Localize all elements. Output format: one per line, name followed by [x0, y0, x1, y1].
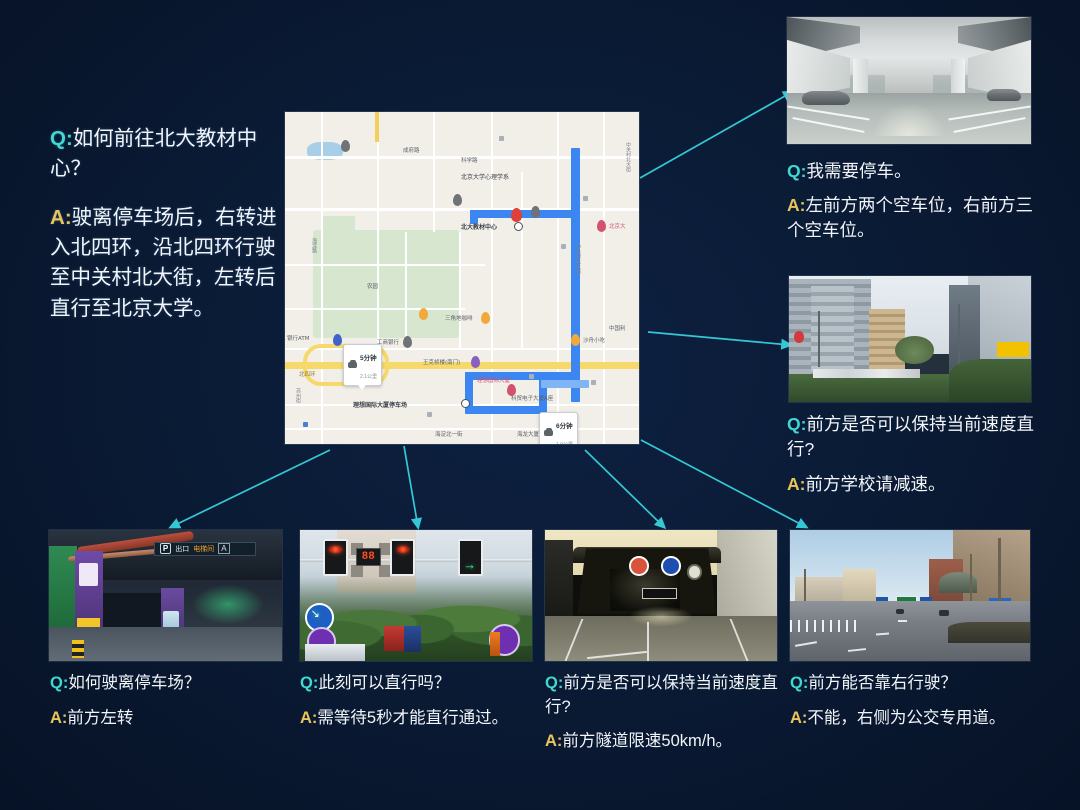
far-wall [885, 68, 934, 96]
map-label: 三角地咖啡 [445, 314, 473, 322]
parked-car-right [987, 89, 1021, 100]
spacer [300, 698, 538, 707]
red-sign [794, 331, 804, 342]
spacer [50, 698, 285, 707]
question-text: 此刻可以直行吗？ [318, 674, 450, 692]
a-label: A [787, 195, 800, 215]
question-text: 前方能否靠右行驶？ [808, 674, 957, 692]
answer-navigation: A:驶离停车场后，右转进入北四环，沿北四环行驶至中关村北大街，左转后直行至北京大… [50, 203, 282, 324]
question-navigation: Q:如何前往北大教材中心？ [50, 124, 282, 185]
map-label: 科学路 [461, 156, 478, 164]
tunnel-scene [545, 530, 777, 661]
car-icon [348, 362, 357, 368]
map-poi [591, 380, 596, 385]
answer-parking: A:左前方两个空车位，右前方三个空车位。 [787, 193, 1049, 243]
map-road [459, 232, 461, 348]
exit-direction-sign: P 出口 电梯间 A [154, 542, 257, 556]
photo-traffic-lights[interactable]: 88 → ↘ [300, 530, 532, 661]
map-pin[interactable] [531, 206, 540, 218]
a-label: A [50, 206, 65, 229]
map-road [377, 112, 379, 352]
retaining-wall-left [545, 540, 573, 616]
q-label: Q [787, 161, 801, 181]
a-label: A [790, 709, 802, 727]
spacer [790, 698, 1040, 707]
qa-block-navigation: Q:如何前往北大教材中心？ A:驶离停车场后，右转进入北四环，沿北四环行驶至中关… [50, 124, 282, 326]
q-label: Q [50, 127, 66, 150]
map-origin-marker-label: 理想国际大厦 [477, 376, 510, 384]
qa-block-school-speed: Q:前方是否可以保持当前速度直行? A:前方学校请减速。 [787, 412, 1055, 500]
map-route-tooltip-1[interactable]: 5分钟 2.1公里 [343, 344, 382, 386]
map-pin[interactable] [481, 312, 490, 324]
floor-light-reflection [872, 103, 945, 136]
map-road [321, 112, 323, 444]
map-label: 海淀北一街 [435, 430, 463, 438]
map-destination-dot [514, 222, 523, 231]
bare-tree [998, 538, 1001, 604]
map-label: 北四环 [299, 370, 316, 378]
q-label: Q [790, 674, 803, 692]
map-label: 银行ATM [287, 334, 309, 342]
question-text: 如何前往北大教材中心？ [50, 127, 257, 180]
bare-tree [970, 554, 972, 604]
a-label: A [787, 474, 800, 494]
question-parking: Q:我需要停车。 [787, 159, 1049, 184]
spacer [50, 187, 282, 203]
tooltip-distance: 2.1公里 [360, 374, 377, 380]
q-label: Q [50, 674, 63, 692]
map-road [433, 112, 435, 232]
parked-cars-row [813, 369, 919, 378]
map-route-tooltip-2[interactable]: 6分钟 1.9公里 [539, 412, 578, 444]
answer-text: 前方左转 [67, 709, 133, 727]
a-label: A [50, 709, 62, 727]
parking-p-icon: P [160, 543, 171, 554]
answer-text: 不能，右侧为公交专用道。 [807, 709, 1005, 727]
building-window [379, 565, 391, 577]
a-label: A [545, 732, 557, 750]
map-pin[interactable] [419, 308, 428, 320]
answer-bus-lane: A:不能，右侧为公交专用道。 [790, 707, 1040, 731]
zone-code: A [218, 543, 229, 554]
traffic-light-housing-2 [390, 539, 415, 576]
tooltip-distance: 1.9公里 [556, 442, 573, 444]
utility-pole [818, 311, 820, 366]
map-pin[interactable] [403, 336, 412, 348]
qa-block-tunnel-speed: Q:前方是否可以保持当前速度直行? A:前方隧道限速50km/h。 [545, 672, 785, 756]
map-destination-pin[interactable] [511, 208, 522, 222]
a-colon: : [65, 206, 72, 229]
map-poi [529, 374, 534, 379]
yellow-warning-sign [77, 618, 100, 627]
question-text: 前方是否可以保持当前速度直行? [545, 674, 778, 716]
distant-car [939, 610, 949, 616]
spacer [787, 464, 1055, 472]
utility-pole [958, 304, 960, 364]
answer-tunnel-speed: A:前方隧道限速50km/h。 [545, 730, 785, 754]
parking-garage-scene [787, 17, 1031, 144]
map-poi [499, 136, 504, 141]
map-route-highlight [541, 380, 589, 388]
map-label: 成府路 [403, 146, 420, 154]
tooltip-time: 5分钟 [360, 355, 377, 362]
map-label: 北京大学心理学系 [461, 172, 509, 181]
map-label: 沙舟小吃 [583, 336, 605, 344]
arrow-to-traffic-lights [404, 446, 418, 527]
street-tree [895, 336, 934, 364]
map-destination-label: 北大教材中心 [461, 222, 497, 231]
q-label: Q [300, 674, 313, 692]
map-label-vertical: 中关村北大街 [575, 244, 582, 274]
pedestrian-fence [790, 620, 862, 632]
q-label: Q [787, 414, 801, 434]
map-green-small [321, 216, 355, 232]
answer-text: 需等待5秒才能直行通过。 [317, 709, 508, 727]
map-label: 海龙大厦 [517, 430, 539, 438]
photo-colorful-garage[interactable]: P 出口 电梯间 A [49, 530, 282, 661]
speed-limit-sign [629, 556, 649, 576]
map-route-segment [571, 340, 580, 402]
parked-car-left [802, 91, 851, 105]
question-traffic-light: Q:此刻可以直行吗？ [300, 672, 538, 696]
answer-text: 驶离停车场后，右转进入北四环，沿北四环行驶至中关村北大街，左转后直行至北京大学。 [50, 206, 277, 320]
map-label-vertical: 苏州街 [295, 388, 302, 403]
a-label: A [300, 709, 312, 727]
arrow-to-street-view [648, 332, 790, 345]
answer-text: 前方隧道限速50km/h。 [562, 732, 732, 750]
answer-school-speed: A:前方学校请减速。 [787, 472, 1055, 497]
map-road [491, 112, 493, 444]
question-text: 我需要停车。 [806, 161, 911, 181]
traffic-light-housing-1 [323, 539, 348, 576]
road-light-glow [629, 606, 694, 627]
hedge-right [949, 359, 1031, 402]
map-label-vertical: 海淀路 [311, 238, 318, 253]
map-poi [583, 196, 588, 201]
red-light [397, 546, 410, 553]
map-pin[interactable] [453, 194, 462, 206]
map-label: 中国利 [609, 324, 626, 332]
wide-road-scene [790, 530, 1030, 661]
map-road [285, 208, 639, 211]
photo-street-view[interactable] [789, 276, 1031, 402]
lane-marking [647, 622, 649, 661]
map-label: 农园 [367, 282, 378, 290]
question-school-speed: Q:前方是否可以保持当前速度直行? [787, 412, 1055, 462]
traffic-lights-scene: 88 → ↘ [300, 530, 532, 661]
map-poi [427, 412, 432, 417]
answer-traffic-light: A:需等待5秒才能直行通过。 [300, 707, 538, 731]
traffic-light-housing-3: → [458, 539, 483, 576]
map-route-segment [465, 406, 547, 414]
sign-text-orange: 电梯间 [193, 544, 214, 554]
floor [49, 627, 282, 661]
map-road [285, 264, 485, 266]
answer-text: 左前方两个空车位，右前方三个空车位。 [787, 195, 1033, 240]
median-shrubs [948, 622, 1030, 643]
street-view-scene [789, 276, 1031, 402]
white-truck [305, 644, 365, 661]
map-arterial-vertical [375, 112, 379, 142]
map-pin[interactable] [471, 356, 480, 368]
infographic-canvas: Q:如何前往北大教材中心？ A:驶离停车场后，右转进入北四环，沿北四环行驶至中关… [0, 0, 1080, 810]
map-pin[interactable] [341, 140, 350, 152]
photo-wide-road[interactable] [790, 530, 1030, 661]
map-origin-label: 理想国际大厦停车场 [353, 400, 407, 409]
hazard-stripe-post [72, 640, 84, 658]
map-pin[interactable] [597, 220, 606, 232]
arrow-to-tunnel [585, 450, 664, 527]
map-origin-dot [461, 399, 470, 408]
map-park-area [313, 230, 459, 338]
tooltip-time: 6分钟 [556, 423, 573, 430]
qa-block-bus-lane: Q:前方能否靠右行驶？ A:不能，右侧为公交专用道。 [790, 672, 1040, 733]
question-bus-lane: Q:前方能否靠右行驶？ [790, 672, 1040, 696]
yellow-storefront-sign [997, 342, 1028, 357]
spacer [787, 186, 1049, 193]
question-text: 前方是否可以保持当前速度直行? [787, 414, 1034, 459]
map-pin[interactable] [333, 334, 342, 346]
qa-block-exit-parking: Q:如何驶离停车场？ A:前方左转 [50, 672, 285, 733]
map-poi [303, 422, 308, 427]
map-road [285, 308, 465, 310]
blue-sign-arrow-icon: ↘ [310, 609, 319, 620]
road-worker [490, 632, 499, 656]
map-poi [561, 244, 566, 249]
arrow-to-colorful-garage [171, 450, 330, 527]
map-road [405, 232, 407, 348]
q-colon: : [66, 127, 73, 150]
route-map[interactable]: 北大教材中心 理想国际大厦停车场 理想国际大厦 北京大学心理学系 北京大学心理学… [285, 112, 639, 444]
blue-roadside-object [404, 626, 420, 652]
map-road [603, 112, 605, 444]
warning-sign [687, 564, 703, 580]
map-pin[interactable] [571, 334, 580, 346]
photo-parking-garage[interactable] [787, 17, 1031, 144]
sign-text: 出口 [175, 544, 189, 554]
qa-block-traffic-light: Q:此刻可以直行吗？ A:需等待5秒才能直行通过。 [300, 672, 538, 733]
blue-regulatory-sign [661, 556, 681, 576]
map-label-vertical: 中关村北大街 [625, 142, 632, 172]
map-label: 科贸电子大厦A座 [511, 394, 553, 402]
countdown-display: 88 [356, 548, 381, 566]
lane-dash [898, 620, 907, 622]
red-roadside-object [384, 626, 405, 651]
map-road [557, 112, 559, 444]
car-icon [544, 430, 553, 436]
map-label: 北京大 [609, 222, 626, 230]
map-label: 王克桢楼(南门) [423, 358, 460, 366]
red-light [329, 546, 342, 553]
photo-tunnel[interactable] [545, 530, 777, 661]
arrow-to-wide-road [641, 440, 806, 527]
answer-exit-parking: A:前方左转 [50, 707, 285, 731]
distant-car [896, 609, 904, 614]
wayfinding-pictogram [79, 563, 98, 587]
arrow-to-parking-garage [640, 92, 792, 178]
green-right-arrow-icon: → [463, 558, 476, 571]
q-label: Q [545, 674, 558, 692]
height-limit-plate [642, 588, 676, 599]
answer-text: 前方学校请减速。 [805, 474, 945, 494]
building-window [351, 565, 363, 577]
green-light-glow [193, 585, 263, 624]
question-text: 如何驶离停车场？ [68, 674, 200, 692]
spacer [545, 722, 785, 730]
question-exit-parking: Q:如何驶离停车场？ [50, 672, 285, 696]
map-road [521, 172, 523, 348]
question-tunnel-speed: Q:前方是否可以保持当前速度直行? [545, 672, 785, 720]
colorful-garage-scene: P 出口 电梯间 A [49, 530, 282, 661]
qa-block-parking: Q:我需要停车。 A:左前方两个空车位，右前方三个空车位。 [787, 159, 1049, 246]
